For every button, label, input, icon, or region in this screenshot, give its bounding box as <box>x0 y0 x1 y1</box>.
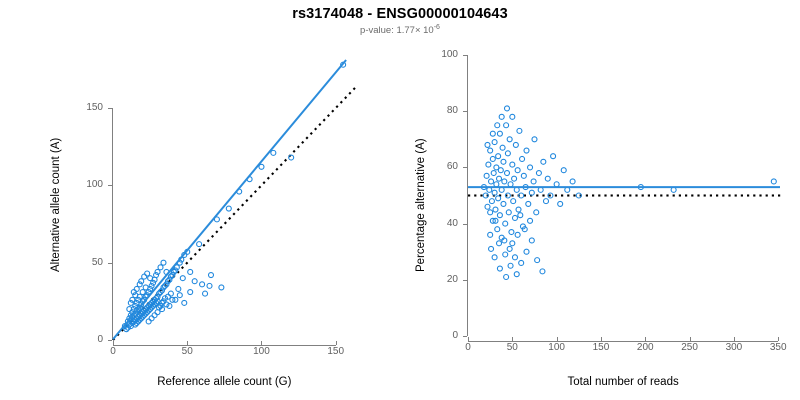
scatter-point <box>515 168 520 173</box>
scatter-point <box>488 210 493 215</box>
scatter-point <box>146 319 151 324</box>
scatter-point <box>182 300 187 305</box>
scatter-point <box>499 187 504 192</box>
scatter-point <box>188 290 193 295</box>
scatter-point <box>503 221 508 226</box>
scatter-point <box>501 159 506 164</box>
scatter-point <box>545 176 550 181</box>
scatter-point <box>219 285 224 290</box>
scatter-point <box>551 154 556 159</box>
scatter-point <box>496 154 501 159</box>
scatter-point <box>507 137 512 142</box>
scatter-point <box>503 252 508 257</box>
scatter-point <box>499 114 504 119</box>
scatter-point <box>505 151 510 156</box>
scatter-point <box>208 273 213 278</box>
scatter-point <box>152 313 157 318</box>
scatter-point <box>524 249 529 254</box>
scatter-point <box>497 176 502 181</box>
scatter-point <box>504 274 509 279</box>
scatter-point <box>145 271 150 276</box>
scatter-point <box>134 286 139 291</box>
scatter-point <box>513 142 518 147</box>
panel-reference-vs-alternative: 050100150050100150Reference allele count… <box>0 0 400 400</box>
scatter-point <box>142 274 147 279</box>
scatter-point <box>510 162 515 167</box>
scatter-point <box>538 187 543 192</box>
scatter-point <box>493 207 498 212</box>
scatter-point <box>526 201 531 206</box>
scatter-point <box>508 263 513 268</box>
scatter-point <box>168 291 173 296</box>
scatter-points <box>122 62 345 331</box>
scatter-point <box>489 199 494 204</box>
scatter-point <box>490 131 495 136</box>
scatter-points <box>481 106 776 280</box>
scatter-point <box>515 232 520 237</box>
plot-data-layer <box>400 0 800 400</box>
scatter-point <box>565 187 570 192</box>
scatter-point <box>486 162 491 167</box>
scatter-point <box>529 190 534 195</box>
scatter-point <box>512 255 517 260</box>
scatter-point <box>495 123 500 128</box>
scatter-point <box>507 246 512 251</box>
plot-data-layer <box>0 0 400 400</box>
chart-figure: rs3174048 - ENSG00000104643 p-value: 1.7… <box>0 0 800 400</box>
scatter-point <box>514 187 519 192</box>
scatter-point <box>180 276 185 281</box>
scatter-point <box>494 182 499 187</box>
scatter-point <box>492 190 497 195</box>
scatter-point <box>489 179 494 184</box>
scatter-point <box>561 168 566 173</box>
scatter-point <box>505 106 510 111</box>
scatter-point <box>519 260 524 265</box>
scatter-point <box>544 199 549 204</box>
scatter-point <box>161 260 166 265</box>
scatter-point <box>540 269 545 274</box>
scatter-point <box>492 255 497 260</box>
scatter-point <box>508 182 513 187</box>
scatter-point <box>226 206 231 211</box>
scatter-point <box>524 148 529 153</box>
scatter-point <box>177 293 182 298</box>
scatter-point <box>520 156 525 161</box>
scatter-point <box>259 164 264 169</box>
scatter-point <box>528 165 533 170</box>
scatter-point <box>570 179 575 184</box>
scatter-point <box>497 213 502 218</box>
scatter-point <box>497 241 502 246</box>
scatter-point <box>509 230 514 235</box>
scatter-point <box>536 171 541 176</box>
scatter-point <box>495 227 500 232</box>
scatter-point <box>516 207 521 212</box>
scatter-point <box>510 241 515 246</box>
scatter-point <box>271 150 276 155</box>
scatter-point <box>203 291 208 296</box>
scatter-point <box>497 131 502 136</box>
scatter-point <box>487 187 492 192</box>
scatter-point <box>521 173 526 178</box>
scatter-point <box>485 142 490 147</box>
scatter-point <box>489 246 494 251</box>
scatter-point <box>158 265 163 270</box>
scatter-point <box>485 204 490 209</box>
scatter-point <box>484 173 489 178</box>
scatter-point <box>541 159 546 164</box>
scatter-point <box>506 210 511 215</box>
scatter-point <box>771 179 776 184</box>
scatter-point <box>512 215 517 220</box>
scatter-point <box>505 171 510 176</box>
scatter-point <box>498 168 503 173</box>
scatter-point <box>188 269 193 274</box>
scatter-point <box>511 199 516 204</box>
scatter-point <box>554 182 559 187</box>
scatter-point <box>488 148 493 153</box>
scatter-point <box>518 213 523 218</box>
scatter-point <box>176 286 181 291</box>
scatter-point <box>207 283 212 288</box>
scatter-point <box>500 145 505 150</box>
scatter-point <box>535 258 540 263</box>
fit-line <box>113 60 346 339</box>
scatter-point <box>488 232 493 237</box>
scatter-point <box>492 140 497 145</box>
panel-reads-vs-percentage: 020406080100050100150200250300350Total n… <box>400 0 800 400</box>
scatter-point <box>532 137 537 142</box>
scatter-point <box>671 187 676 192</box>
scatter-point <box>528 218 533 223</box>
scatter-point <box>502 179 507 184</box>
scatter-point <box>200 282 205 287</box>
scatter-point <box>504 123 509 128</box>
scatter-point <box>558 201 563 206</box>
scatter-point <box>512 176 517 181</box>
scatter-point <box>491 171 496 176</box>
scatter-point <box>517 128 522 133</box>
scatter-point <box>501 201 506 206</box>
scatter-point <box>531 179 536 184</box>
scatter-point <box>490 156 495 161</box>
scatter-point <box>496 196 501 201</box>
scatter-point <box>497 266 502 271</box>
scatter-point <box>510 114 515 119</box>
scatter-point <box>197 242 202 247</box>
scatter-point <box>149 316 154 321</box>
scatter-point <box>514 272 519 277</box>
scatter-point <box>534 210 539 215</box>
scatter-point <box>529 238 534 243</box>
scatter-point <box>192 279 197 284</box>
